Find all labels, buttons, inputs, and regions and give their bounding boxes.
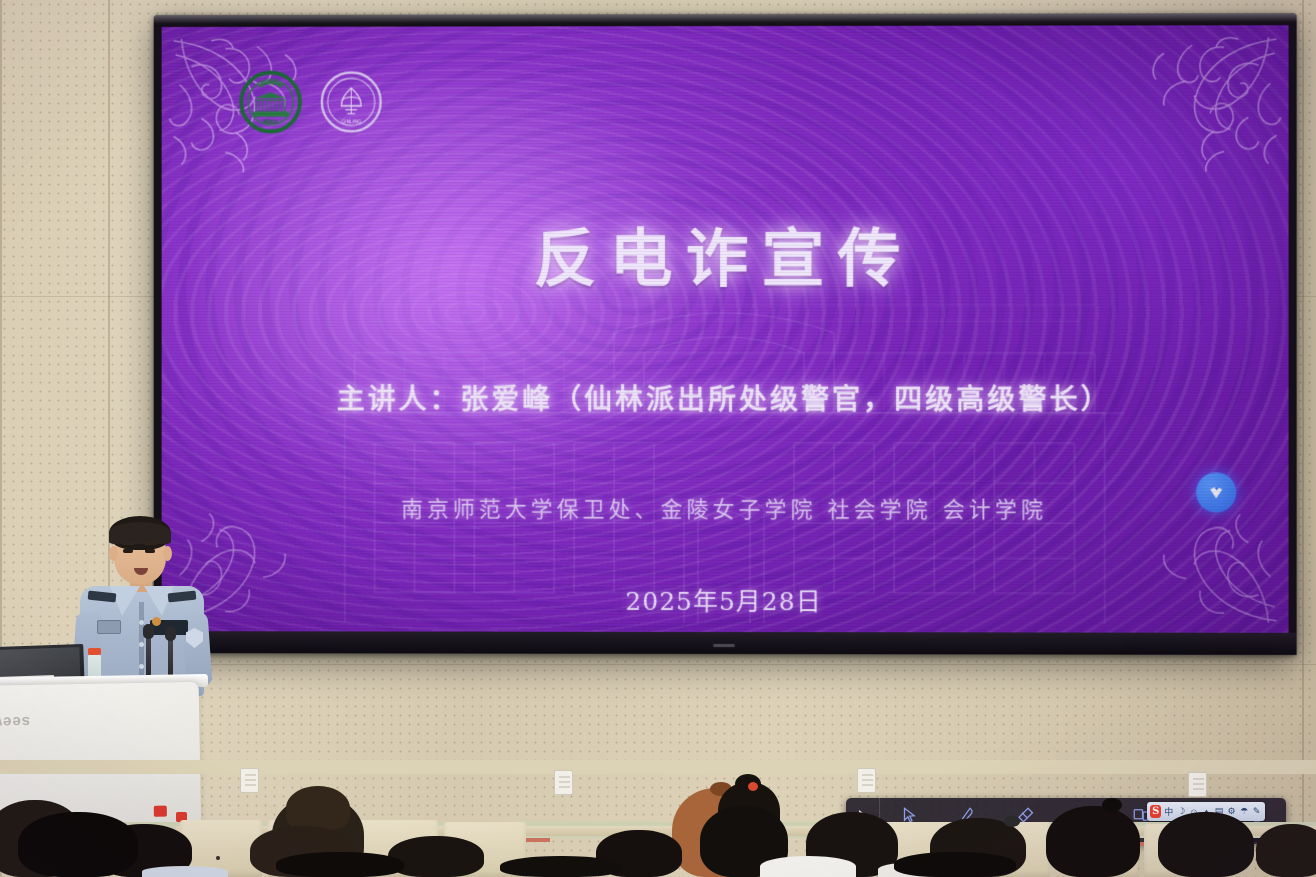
ginling-college-logo: GINLING	[320, 70, 383, 133]
display-indicator	[713, 644, 735, 647]
water-bottle-cap	[88, 648, 101, 655]
audience-shoulder	[760, 856, 856, 877]
lecture-hall-photo: 1902 NNU GINLING	[0, 0, 1316, 877]
eye-left	[123, 549, 133, 553]
wall-band	[0, 760, 1316, 774]
shirt-button	[139, 642, 144, 647]
eyebrow-left	[122, 542, 135, 545]
wall-outlet[interactable]	[240, 768, 259, 793]
eye-right	[145, 549, 155, 553]
shirt-button	[139, 664, 144, 669]
nnu-logo: 1902 NNU	[239, 71, 302, 134]
audience-head	[1256, 824, 1316, 877]
chinese-mode-icon[interactable]: 中	[1163, 805, 1174, 818]
pen-tool-icon[interactable]: ✎	[1251, 805, 1262, 818]
cursor-icon	[900, 806, 918, 824]
podium-indicator	[154, 806, 167, 817]
audience-shoulder	[142, 866, 228, 877]
wall-seam	[1302, 0, 1304, 877]
svg-text:GINLING: GINLING	[341, 120, 362, 126]
shirt-button	[139, 620, 144, 625]
wall-outlet[interactable]	[857, 768, 876, 793]
ear-right	[163, 546, 172, 561]
badge-emblem	[152, 617, 161, 626]
microphone-head	[143, 624, 154, 639]
podium-brand-label: seewo	[0, 713, 30, 731]
wps-play-button[interactable]	[1196, 472, 1236, 512]
slide-speaker-line: 主讲人：张爱峰（仙林派出所处级警官，四级高级警长）	[162, 378, 1289, 418]
ear-left	[109, 546, 118, 561]
audience-head-foreground	[894, 852, 1016, 877]
hair-highlight	[109, 522, 171, 544]
eyebrow-right	[144, 542, 157, 545]
presentation-slide[interactable]: 1902 NNU GINLING	[162, 25, 1289, 633]
microphone-head	[165, 626, 176, 641]
slide-logos: 1902 NNU GINLING	[239, 70, 382, 133]
seat-fastener	[216, 856, 220, 860]
slide-title: 反电诈宣传	[162, 208, 1289, 299]
play-bubble-icon	[1204, 480, 1228, 504]
slide-organizations: 南京师范大学保卫处、金陵女子学院 社会学院 会计学院	[162, 492, 1289, 525]
audience-hair-bun	[1102, 798, 1122, 812]
svg-text:1902: 1902	[265, 94, 276, 100]
wall-outlet[interactable]	[554, 770, 573, 795]
wall-outlet[interactable]	[1188, 772, 1207, 797]
slide-date: 2025年5月28日	[162, 581, 1289, 619]
hair-clip	[1004, 816, 1020, 827]
audience-head	[388, 836, 484, 877]
hair-tie	[748, 782, 758, 791]
audience-head	[1158, 812, 1254, 877]
audience-head-foreground	[18, 812, 138, 877]
interactive-display[interactable]: 1902 NNU GINLING	[154, 13, 1297, 655]
audience-head	[1046, 806, 1140, 877]
audience-head-foreground	[276, 852, 404, 877]
shoulder-patch	[97, 620, 121, 634]
audience-head-foreground	[500, 856, 622, 877]
audience-hair-top	[286, 786, 350, 830]
umbrella-icon[interactable]: ☂	[1239, 805, 1250, 818]
sogou-logo-icon[interactable]: S	[1150, 805, 1161, 818]
svg-text:NNU: NNU	[263, 120, 278, 126]
